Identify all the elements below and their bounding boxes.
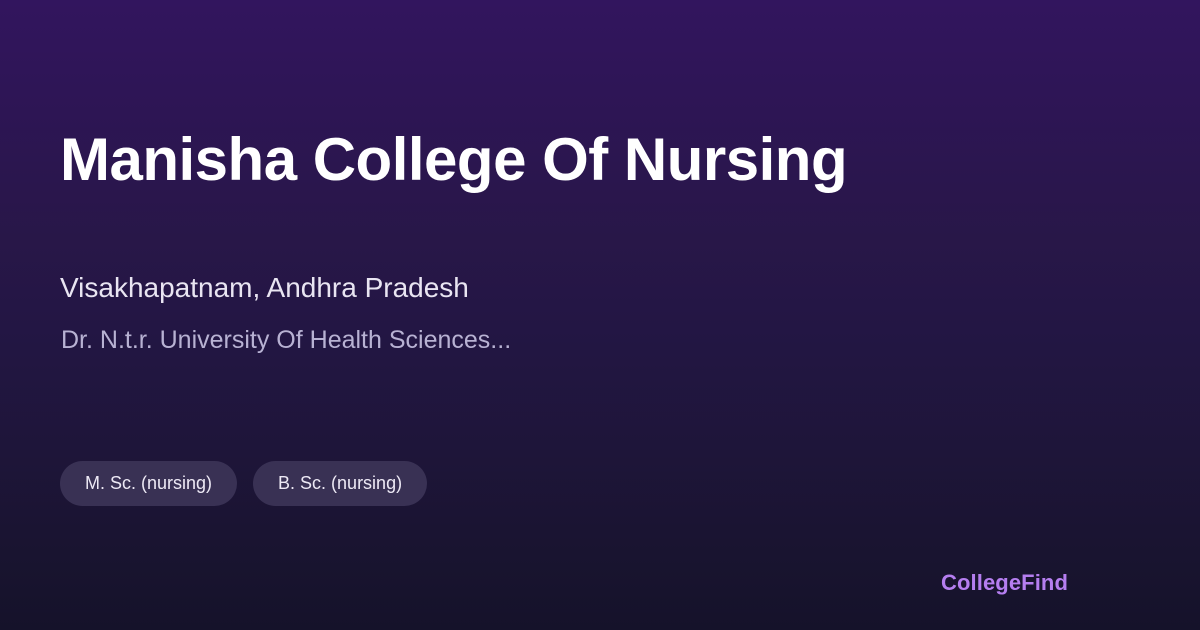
course-tag-list: M. Sc. (nursing) B. Sc. (nursing): [60, 461, 427, 506]
college-location: Visakhapatnam, Andhra Pradesh: [60, 270, 469, 306]
college-affiliation: Dr. N.t.r. University Of Health Sciences…: [61, 324, 511, 357]
brand-logo-text: CollegeFind: [941, 570, 1068, 596]
page-title: Manisha College Of Nursing: [60, 126, 847, 193]
course-tag-msc-nursing: M. Sc. (nursing): [60, 461, 237, 506]
card-content: Manisha College Of Nursing Visakhapatnam…: [60, 0, 1140, 630]
course-tag-bsc-nursing: B. Sc. (nursing): [253, 461, 427, 506]
college-share-card: Manisha College Of Nursing Visakhapatnam…: [0, 0, 1200, 630]
